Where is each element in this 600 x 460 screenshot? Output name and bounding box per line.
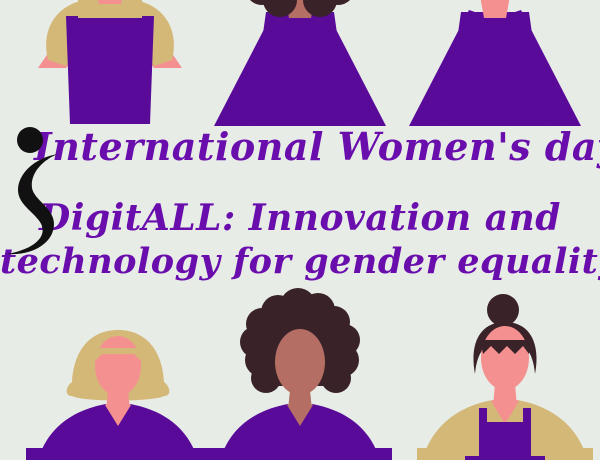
poster-text-block: International Women's day DigitALL: Inno… [0, 128, 600, 279]
logo-head-icon [17, 127, 43, 153]
bottom-figure-center [208, 288, 392, 460]
bottom-figure-right [417, 294, 593, 460]
woman-figure-logo [4, 122, 76, 262]
logo-body-icon [6, 154, 58, 254]
page-title: International Women's day [0, 128, 600, 166]
subtitle-line-1: DigitALL: Innovation and [0, 200, 600, 236]
international-womens-day-poster: International Women's day DigitALL: Inno… [0, 0, 600, 460]
subtitle-line-2: technology for gender equality [0, 244, 600, 279]
bottom-figure-left [26, 330, 210, 460]
